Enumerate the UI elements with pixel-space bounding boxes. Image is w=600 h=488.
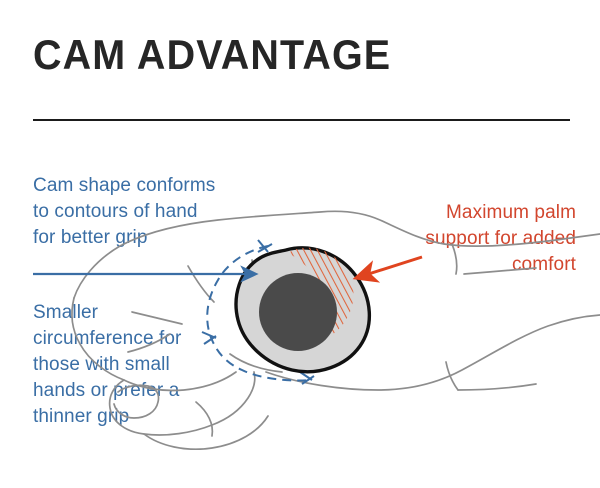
orange-left-arrow bbox=[356, 257, 422, 278]
page-title: CAM ADVANTAGE bbox=[33, 34, 391, 76]
cam-grip-cross-section bbox=[236, 235, 380, 372]
grip-core bbox=[259, 273, 337, 351]
title-divider bbox=[33, 119, 570, 121]
hand-grip-illustration bbox=[0, 140, 600, 450]
cam-advantage-infographic: CAM ADVANTAGE Cam shape conforms to cont… bbox=[0, 0, 600, 488]
